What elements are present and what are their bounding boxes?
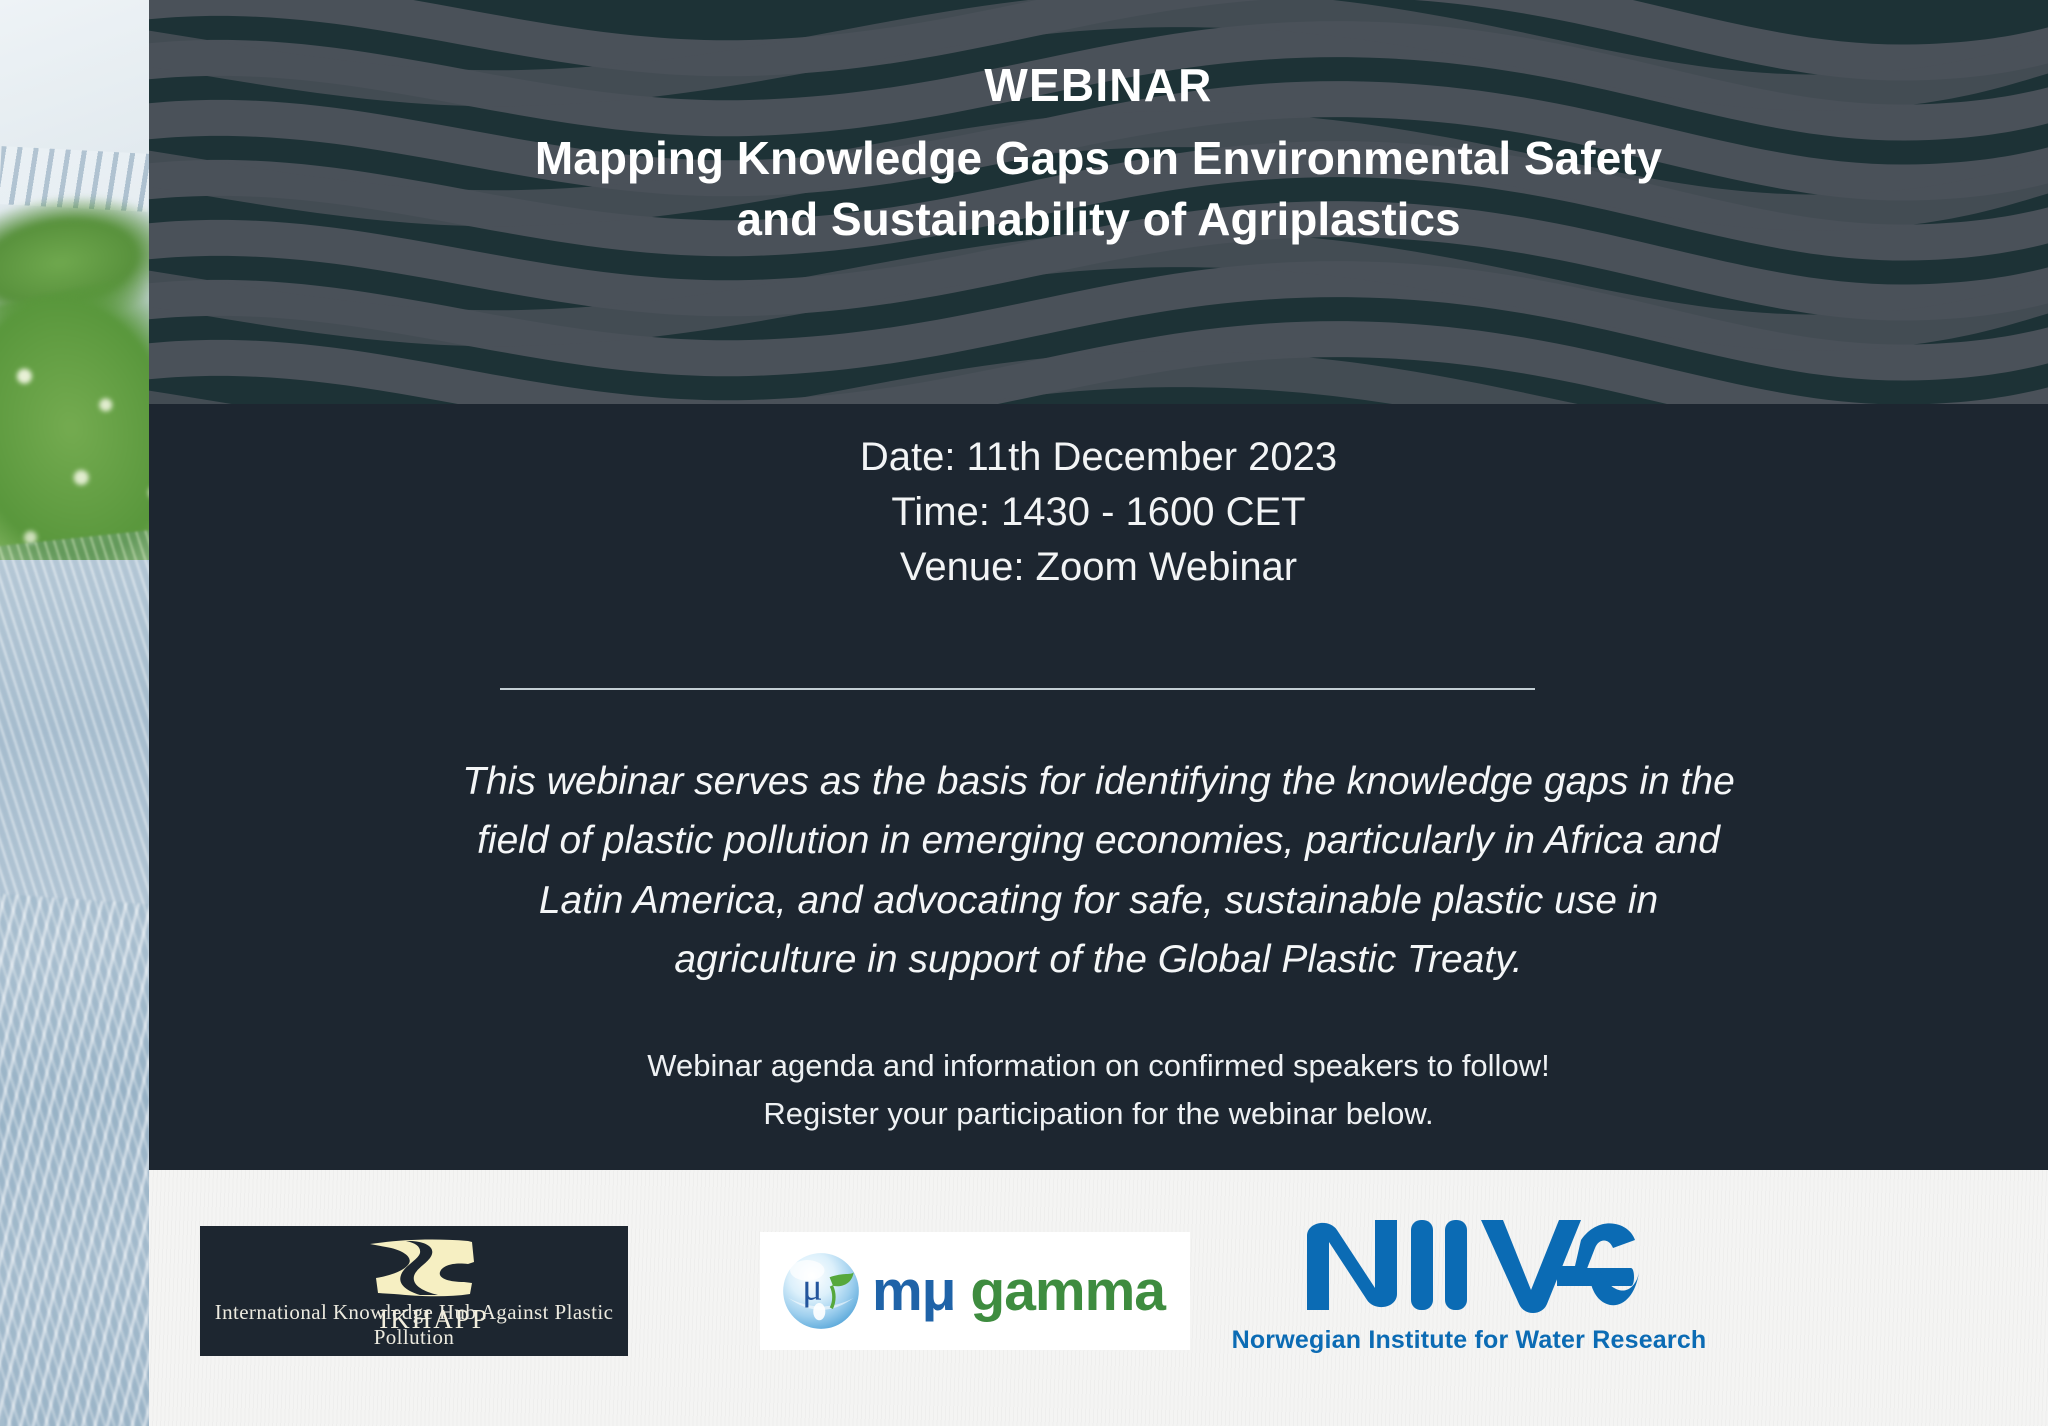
followup-line-2: Register your participation for the webi… — [149, 1090, 2048, 1138]
followup-note: Webinar agenda and information on confir… — [149, 1042, 2048, 1138]
river-meander-icon — [368, 1238, 478, 1300]
niva-tagline: Norwegian Institute for Water Research — [1209, 1326, 1729, 1355]
mugamma-wordmark: mμ gamma — [872, 1258, 1165, 1324]
mugamma-gamma-part: gamma — [970, 1259, 1165, 1323]
logo-ikhapp: IKHAPP International Knowledge Hub Again… — [200, 1226, 628, 1356]
logo-row: IKHAPP International Knowledge Hub Again… — [149, 1170, 2048, 1426]
logo-niva: Norwegian Institute for Water Research — [1209, 1210, 1729, 1380]
webinar-poster: WEBINAR Mapping Knowledge Gaps on Enviro… — [0, 0, 2048, 1426]
webinar-kicker: WEBINAR — [149, 58, 2048, 112]
webinar-description: This webinar serves as the basis for ide… — [149, 752, 2048, 989]
page-title-line-2: and Sustainability of Agriplastics — [149, 189, 2048, 250]
page-title: Mapping Knowledge Gaps on Environmental … — [149, 128, 2048, 250]
niva-wordmark-icon — [1299, 1210, 1639, 1318]
event-details: Date: 11th December 2023 Time: 1430 - 16… — [149, 430, 2048, 596]
svg-text:μ: μ — [802, 1267, 822, 1309]
header-banner: WEBINAR Mapping Knowledge Gaps on Enviro… — [149, 0, 2048, 404]
event-date: Date: 11th December 2023 — [149, 430, 2048, 485]
footer-logo-band: IKHAPP International Knowledge Hub Again… — [149, 1170, 2048, 1426]
photo-film-texture-b — [0, 892, 149, 1426]
description-line-1: This webinar serves as the basis for ide… — [339, 752, 1858, 811]
page-title-line-1: Mapping Knowledge Gaps on Environmental … — [149, 128, 2048, 189]
mugamma-mu-part: mμ — [872, 1259, 956, 1323]
logo-mugamma: μ mμ gamma — [760, 1232, 1190, 1350]
event-time: Time: 1430 - 1600 CET — [149, 485, 2048, 540]
ikhapp-tagline: International Knowledge Hub Against Plas… — [200, 1300, 628, 1350]
section-divider — [500, 688, 1535, 690]
followup-line-1: Webinar agenda and information on confir… — [149, 1042, 2048, 1090]
description-line-2: field of plastic pollution in emerging e… — [339, 811, 1858, 870]
event-venue: Venue: Zoom Webinar — [149, 540, 2048, 595]
description-line-3: Latin America, and advocating for safe, … — [339, 871, 1858, 930]
agriplastic-greenhouse-photo — [0, 0, 149, 1426]
description-line-4: agriculture in support of the Global Pla… — [339, 930, 1858, 989]
water-droplet-sphere-icon: μ — [778, 1248, 864, 1334]
main-panel: WEBINAR Mapping Knowledge Gaps on Enviro… — [149, 0, 2048, 1426]
